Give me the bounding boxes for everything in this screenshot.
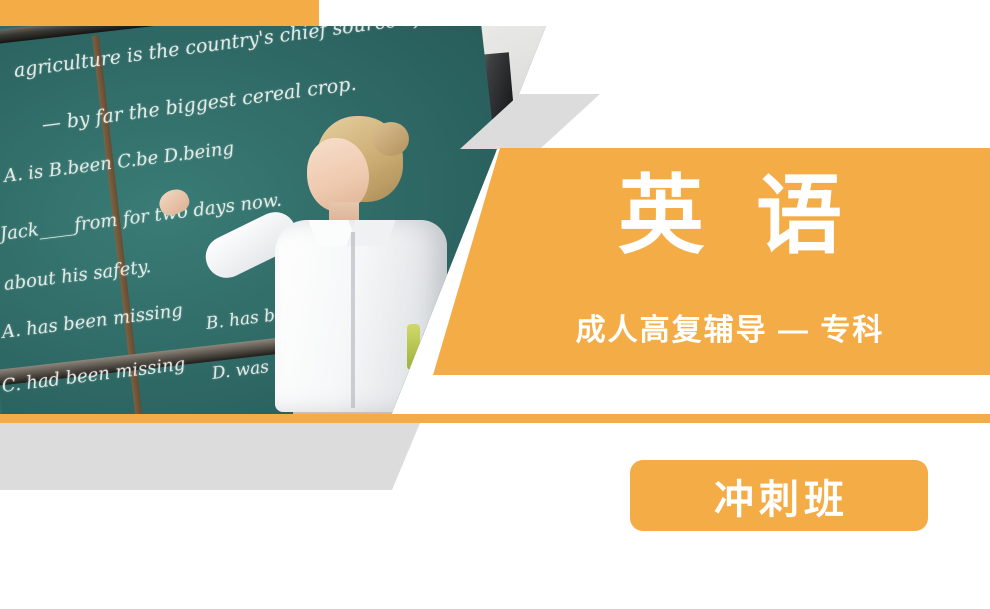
gray-diagonal-band: [0, 423, 420, 490]
page-subtitle: 成人高复辅导 — 专科: [520, 313, 940, 349]
teacher-shirt: [275, 220, 447, 412]
page-title: 英 语: [520, 173, 940, 259]
teacher-shirt-placket: [351, 232, 355, 408]
teacher-hair-bun: [373, 122, 409, 156]
top-left-orange-bar: [0, 0, 319, 26]
poster-canvas: agriculture is the country's chief sourc…: [0, 0, 990, 609]
cta-button[interactable]: 冲刺班: [630, 460, 928, 531]
teacher-face: [307, 138, 369, 212]
marker-pen-icon: [407, 324, 420, 370]
orange-horizontal-rule: [0, 414, 990, 423]
